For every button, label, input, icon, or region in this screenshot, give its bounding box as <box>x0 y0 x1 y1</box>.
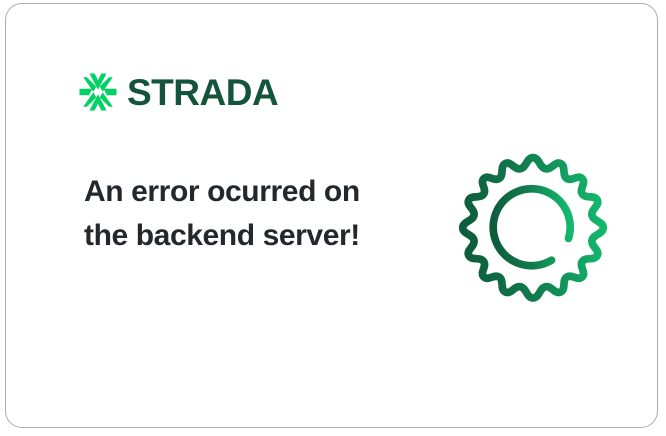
strada-asterisk-logo-icon <box>78 72 118 112</box>
brand-lockup: STRADA <box>78 72 278 112</box>
brand-wordmark: STRADA <box>127 74 278 111</box>
gear-cog-illustration <box>456 146 610 302</box>
error-card: STRADA An error ocurred on the backend s… <box>5 3 658 428</box>
error-headline: An error ocurred on the backend server! <box>84 170 374 258</box>
